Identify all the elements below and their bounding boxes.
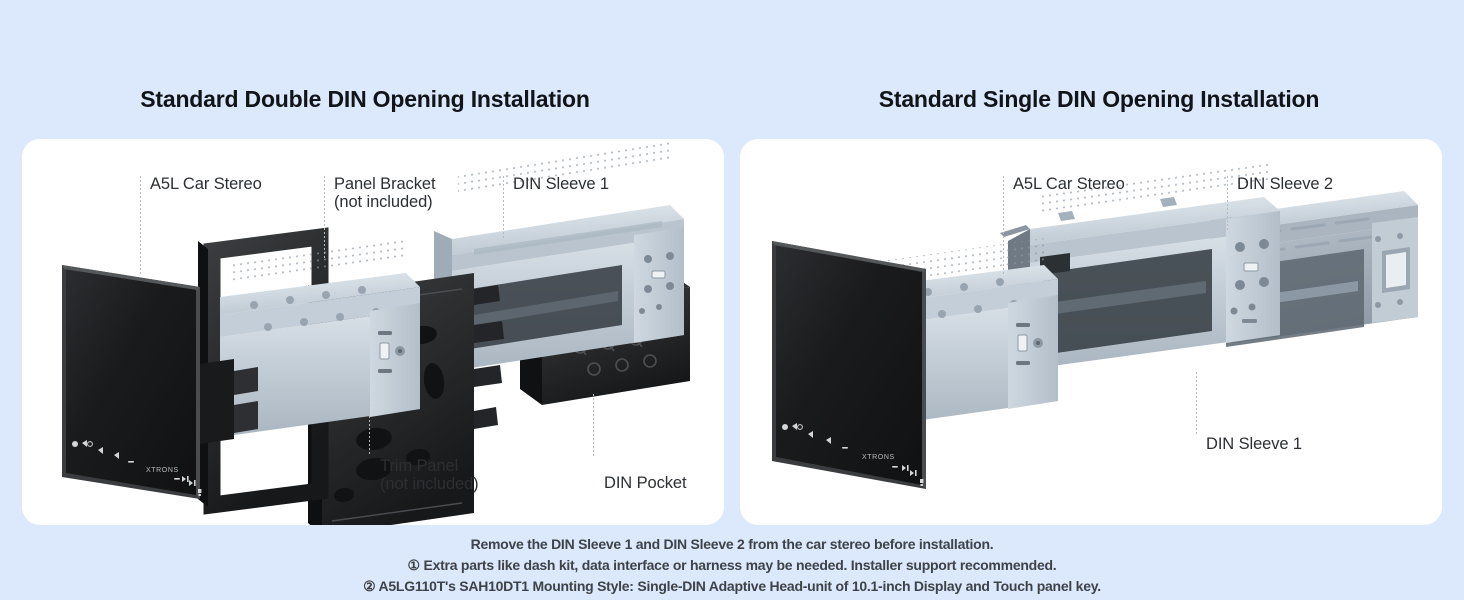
car-stereo-part: XTRONS	[772, 241, 926, 489]
leader-line	[503, 176, 504, 238]
callout-label: DIN Sleeve 1	[513, 176, 609, 194]
single-din-exploded-view: XTRONS	[740, 139, 1442, 525]
footer-text: Remove the DIN Sleeve 1 and DIN Sleeve 2…	[471, 536, 994, 552]
callout-label: DIN Pocket	[604, 475, 686, 493]
callout-label: A5L Car Stereo	[150, 176, 262, 194]
callout-label: DIN Sleeve 1	[1206, 436, 1302, 454]
panel-title-double-din: Standard Double DIN Opening Installation	[0, 86, 730, 113]
svg-text:XTRONS: XTRONS	[146, 467, 179, 474]
callout-label: Trim Panel (not included)	[380, 458, 479, 493]
single-din-diagram-card: XTRONS	[740, 139, 1442, 525]
leader-line	[1003, 176, 1004, 276]
panel-title-single-din: Standard Single DIN Opening Installation	[734, 86, 1464, 113]
footer-note-2: ② A5LG110T's SAH10DT1 Mounting Style: Si…	[0, 576, 1464, 597]
leader-line	[369, 400, 370, 456]
leader-line	[593, 394, 594, 456]
footer-note-1: ① Extra parts like dash kit, data interf…	[0, 555, 1464, 576]
footer-text: ② A5LG110T's SAH10DT1 Mounting Style: Si…	[363, 578, 1101, 594]
leader-line	[1196, 372, 1197, 434]
callout-label: Panel Bracket (not included)	[334, 176, 435, 211]
callout-label: A5L Car Stereo	[1013, 176, 1125, 194]
leader-line	[140, 176, 141, 274]
footer-note-0: Remove the DIN Sleeve 1 and DIN Sleeve 2…	[0, 534, 1464, 555]
footer-text: ① Extra parts like dash kit, data interf…	[408, 557, 1057, 573]
svg-text:XTRONS: XTRONS	[862, 454, 895, 461]
leader-line	[1227, 176, 1228, 232]
product-diagram: Standard Double DIN Opening Installation…	[0, 0, 1464, 600]
callout-label: DIN Sleeve 2	[1237, 176, 1333, 194]
leader-line	[324, 176, 325, 258]
car-stereo-part: XTRONS	[62, 265, 201, 499]
